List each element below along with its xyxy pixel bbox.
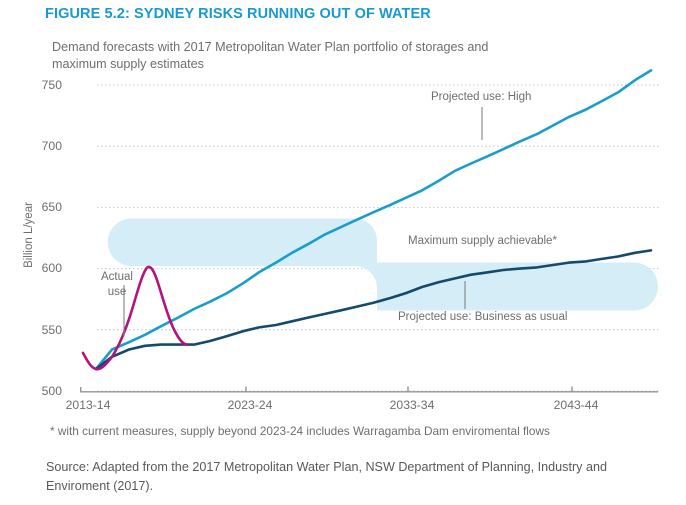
band-shape	[108, 219, 658, 311]
annotation-max-supply: Maximum supply achievable*	[408, 235, 557, 247]
x-tick-2043-44: 2043-44	[554, 398, 599, 412]
max-supply-band	[108, 219, 658, 311]
chart-plot-area: Billion L/year 750 700 650 600 550 500	[0, 0, 686, 440]
figure-source: Source: Adapted from the 2017 Metropolit…	[46, 458, 646, 496]
x-tick-2013-14: 2013-14	[66, 398, 111, 412]
annotation-projected-high: Projected use: High	[431, 91, 531, 103]
x-tick-2033-34: 2033-34	[390, 398, 435, 412]
figure-container: FIGURE 5.2: SYDNEY RISKS RUNNING OUT OF …	[0, 0, 686, 505]
figure-footnote: * with current measures, supply beyond 2…	[50, 424, 550, 438]
x-tick-2023-24: 2023-24	[228, 398, 273, 412]
annotation-actual-use: Actual use	[91, 270, 143, 300]
chart-svg	[0, 0, 686, 440]
annotation-projected-bau: Projected use: Business as usual	[398, 311, 567, 323]
